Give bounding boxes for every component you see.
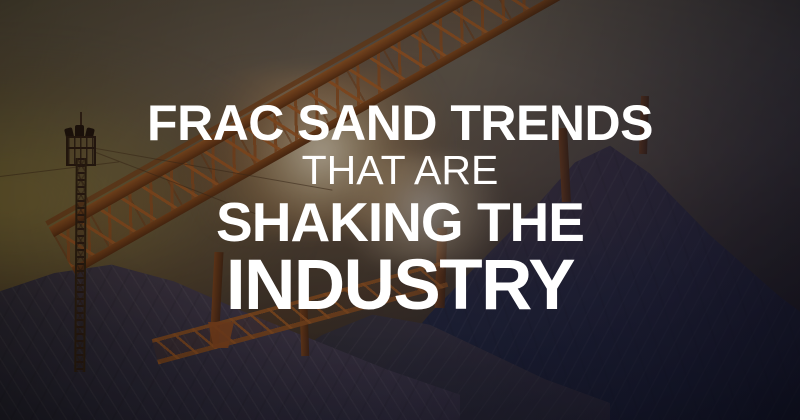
headline-block: Frac Sand Trends That Are Shaking The In… [0,0,800,420]
hero-banner: Frac Sand Trends That Are Shaking The In… [0,0,800,420]
headline-line-2: That Are [302,150,499,192]
headline-line-3: Shaking The [216,196,584,250]
headline-line-1: Frac Sand Trends [147,99,653,148]
headline-line-4: Industry [226,250,574,321]
